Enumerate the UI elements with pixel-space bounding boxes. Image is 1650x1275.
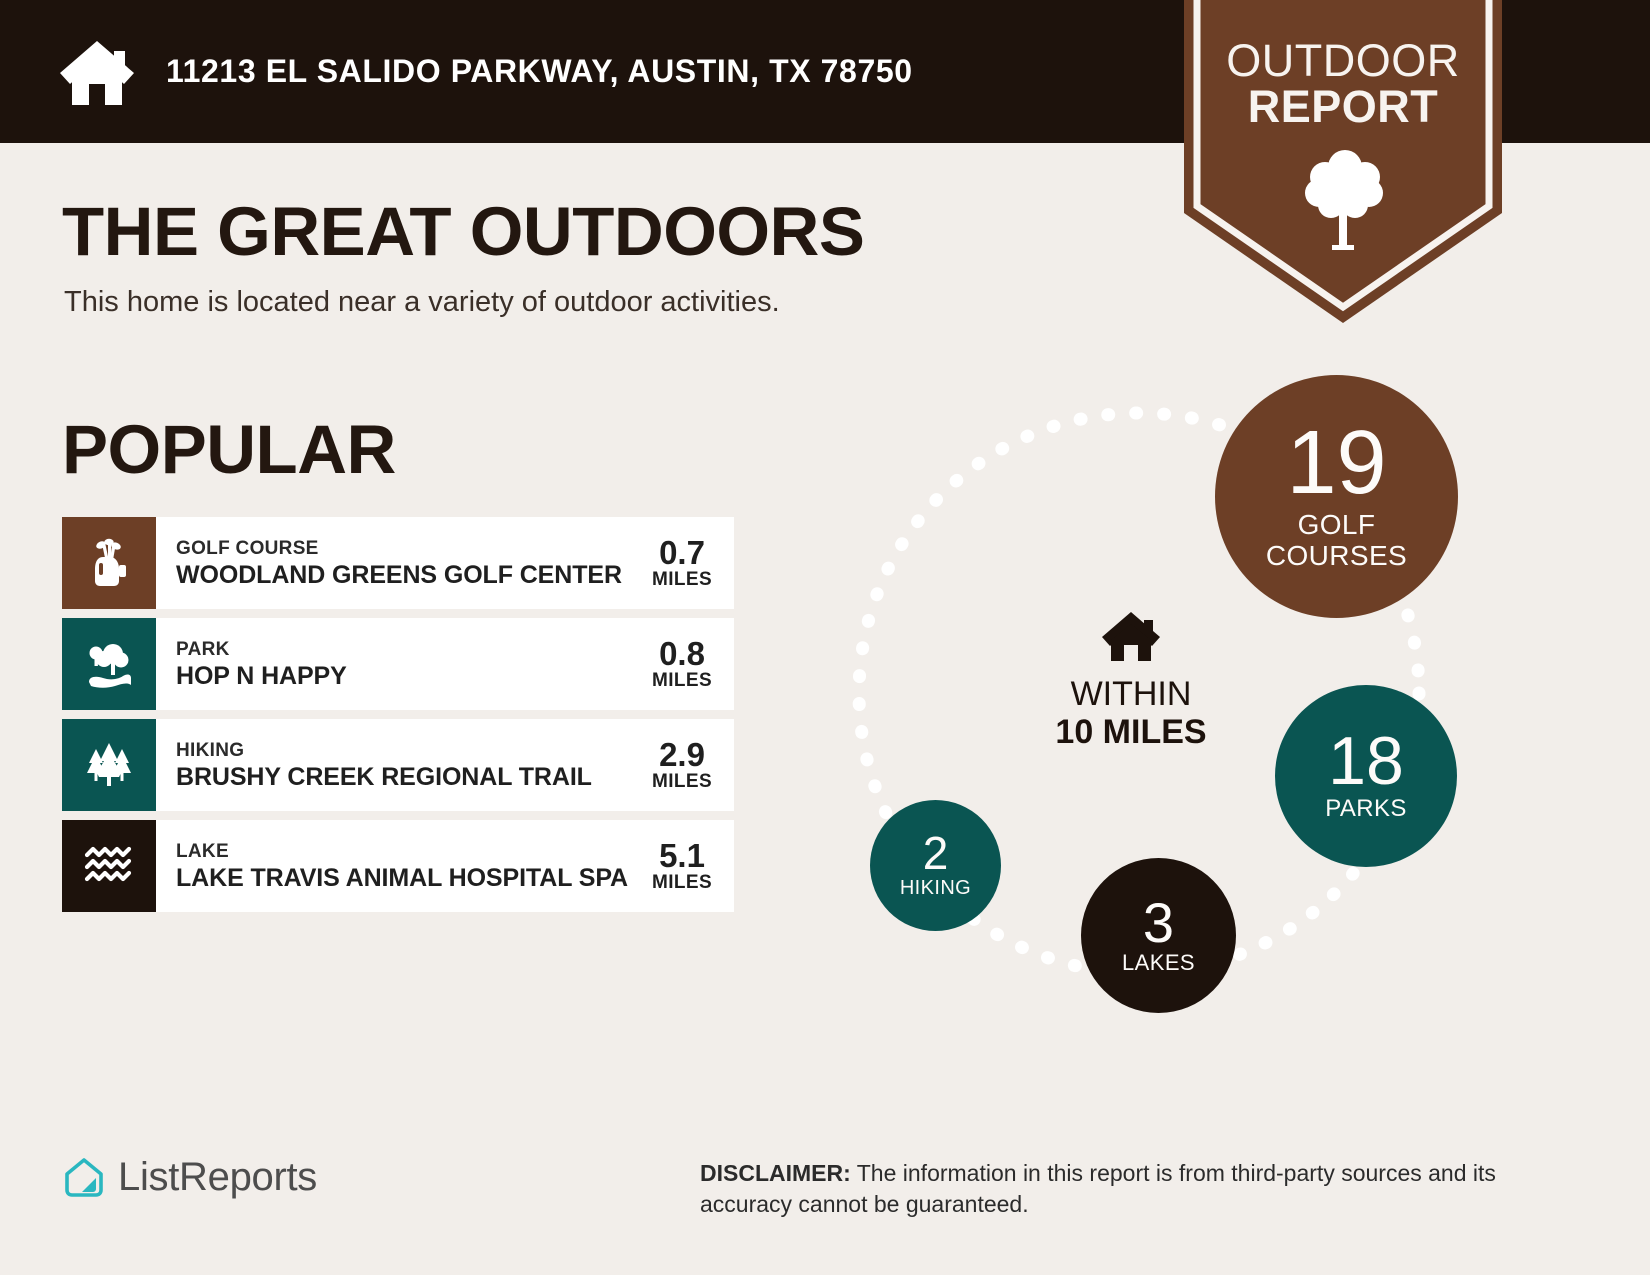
list-item-distance: 0.8 — [644, 637, 720, 670]
list-item-category: HIKING — [176, 739, 592, 763]
disclaimer: DISCLAIMER: The information in this repo… — [700, 1158, 1520, 1220]
list-item-distance-block: 5.1 MILES — [634, 839, 720, 894]
list-item-distance: 2.9 — [644, 738, 720, 771]
bubble-label: GOLF COURSES — [1266, 509, 1407, 572]
waves-icon-tile — [62, 820, 156, 912]
list-item-category: GOLF COURSE — [176, 537, 622, 561]
list-item[interactable]: HIKING BRUSHY CREEK REGIONAL TRAIL 2.9 M… — [62, 719, 734, 811]
list-item-name: HOP N HAPPY — [176, 662, 347, 691]
listreports-wordmark: ListReports — [118, 1155, 317, 1200]
listreports-logo[interactable]: ListReports — [62, 1155, 317, 1200]
bubble-count: 18 — [1328, 729, 1404, 794]
disclaimer-label: DISCLAIMER: — [700, 1160, 851, 1186]
list-item-name: WOODLAND GREENS GOLF CENTER — [176, 561, 622, 590]
list-item-text: PARK HOP N HAPPY — [176, 638, 347, 691]
popular-list: GOLF COURSE WOODLAND GREENS GOLF CENTER … — [62, 517, 734, 921]
list-item-distance-unit: MILES — [644, 670, 720, 692]
list-item-text: GOLF COURSE WOODLAND GREENS GOLF CENTER — [176, 537, 622, 590]
page-subtitle: This home is located near a variety of o… — [64, 286, 780, 319]
page-title: THE GREAT OUTDOORS — [62, 192, 864, 271]
bubble-count: 19 — [1286, 421, 1386, 507]
list-item-category: LAKE — [176, 840, 628, 864]
waves-icon — [83, 840, 135, 892]
list-item-name: BRUSHY CREEK REGIONAL TRAIL — [176, 763, 592, 792]
bubble-count: 3 — [1143, 896, 1174, 949]
list-item-distance-block: 0.8 MILES — [634, 637, 720, 692]
outdoor-report-page: 11213 EL SALIDO PARKWAY, AUSTIN, TX 7875… — [0, 0, 1650, 1275]
bubble-parks[interactable]: 18 PARKS — [1275, 685, 1457, 867]
pine-trees-icon-tile — [62, 719, 156, 811]
outdoor-report-badge: OUTDOOR REPORT — [1184, 0, 1502, 323]
list-item-body: PARK HOP N HAPPY 0.8 MILES — [156, 618, 734, 710]
list-item-distance-unit: MILES — [644, 771, 720, 793]
list-item[interactable]: GOLF COURSE WOODLAND GREENS GOLF CENTER … — [62, 517, 734, 609]
list-item-body: GOLF COURSE WOODLAND GREENS GOLF CENTER … — [156, 517, 734, 609]
list-item-body: HIKING BRUSHY CREEK REGIONAL TRAIL 2.9 M… — [156, 719, 734, 811]
bubble-label: LAKES — [1122, 951, 1195, 976]
list-item-category: PARK — [176, 638, 347, 662]
list-item[interactable]: PARK HOP N HAPPY 0.8 MILES — [62, 618, 734, 710]
list-item-name: LAKE TRAVIS ANIMAL HOSPITAL SPA — [176, 864, 628, 893]
bubble-label-line-2: COURSES — [1266, 540, 1407, 571]
within-radius-diagram: WITHIN 10 MILES 19 GOLF COURSES 18 PARKS… — [800, 355, 1520, 1045]
list-item-distance: 5.1 — [644, 839, 720, 872]
bubble-count: 2 — [923, 832, 949, 876]
home-icon — [1016, 609, 1246, 663]
list-item-text: LAKE LAKE TRAVIS ANIMAL HOSPITAL SPA — [176, 840, 628, 893]
bubble-label-line-1: GOLF — [1298, 509, 1376, 540]
golf-bag-icon — [83, 537, 135, 589]
pine-trees-icon — [83, 739, 135, 791]
bubble-hiking[interactable]: 2 HIKING — [870, 800, 1001, 931]
list-item-body: LAKE LAKE TRAVIS ANIMAL HOSPITAL SPA 5.1… — [156, 820, 734, 912]
list-item-distance-unit: MILES — [644, 872, 720, 894]
list-item-distance: 0.7 — [644, 536, 720, 569]
list-item-text: HIKING BRUSHY CREEK REGIONAL TRAIL — [176, 739, 592, 792]
park-tree-icon — [83, 638, 135, 690]
center-line-2: 10 MILES — [1016, 713, 1246, 751]
list-item-distance-unit: MILES — [644, 569, 720, 591]
listreports-house-icon — [62, 1156, 106, 1200]
bubble-golf-courses[interactable]: 19 GOLF COURSES — [1215, 375, 1458, 618]
golf-bag-icon-tile — [62, 517, 156, 609]
list-item-distance-block: 0.7 MILES — [634, 536, 720, 591]
park-tree-icon-tile — [62, 618, 156, 710]
list-item[interactable]: LAKE LAKE TRAVIS ANIMAL HOSPITAL SPA 5.1… — [62, 820, 734, 912]
list-item-distance-block: 2.9 MILES — [634, 738, 720, 793]
property-address: 11213 EL SALIDO PARKWAY, AUSTIN, TX 7875… — [166, 53, 913, 90]
bubble-lakes[interactable]: 3 LAKES — [1081, 858, 1236, 1013]
bubble-label: HIKING — [900, 877, 971, 899]
center-label: WITHIN 10 MILES — [1016, 609, 1246, 751]
center-line-1: WITHIN — [1016, 675, 1246, 713]
home-icon — [58, 37, 136, 107]
popular-heading: POPULAR — [62, 410, 396, 489]
bubble-label: PARKS — [1325, 796, 1407, 823]
